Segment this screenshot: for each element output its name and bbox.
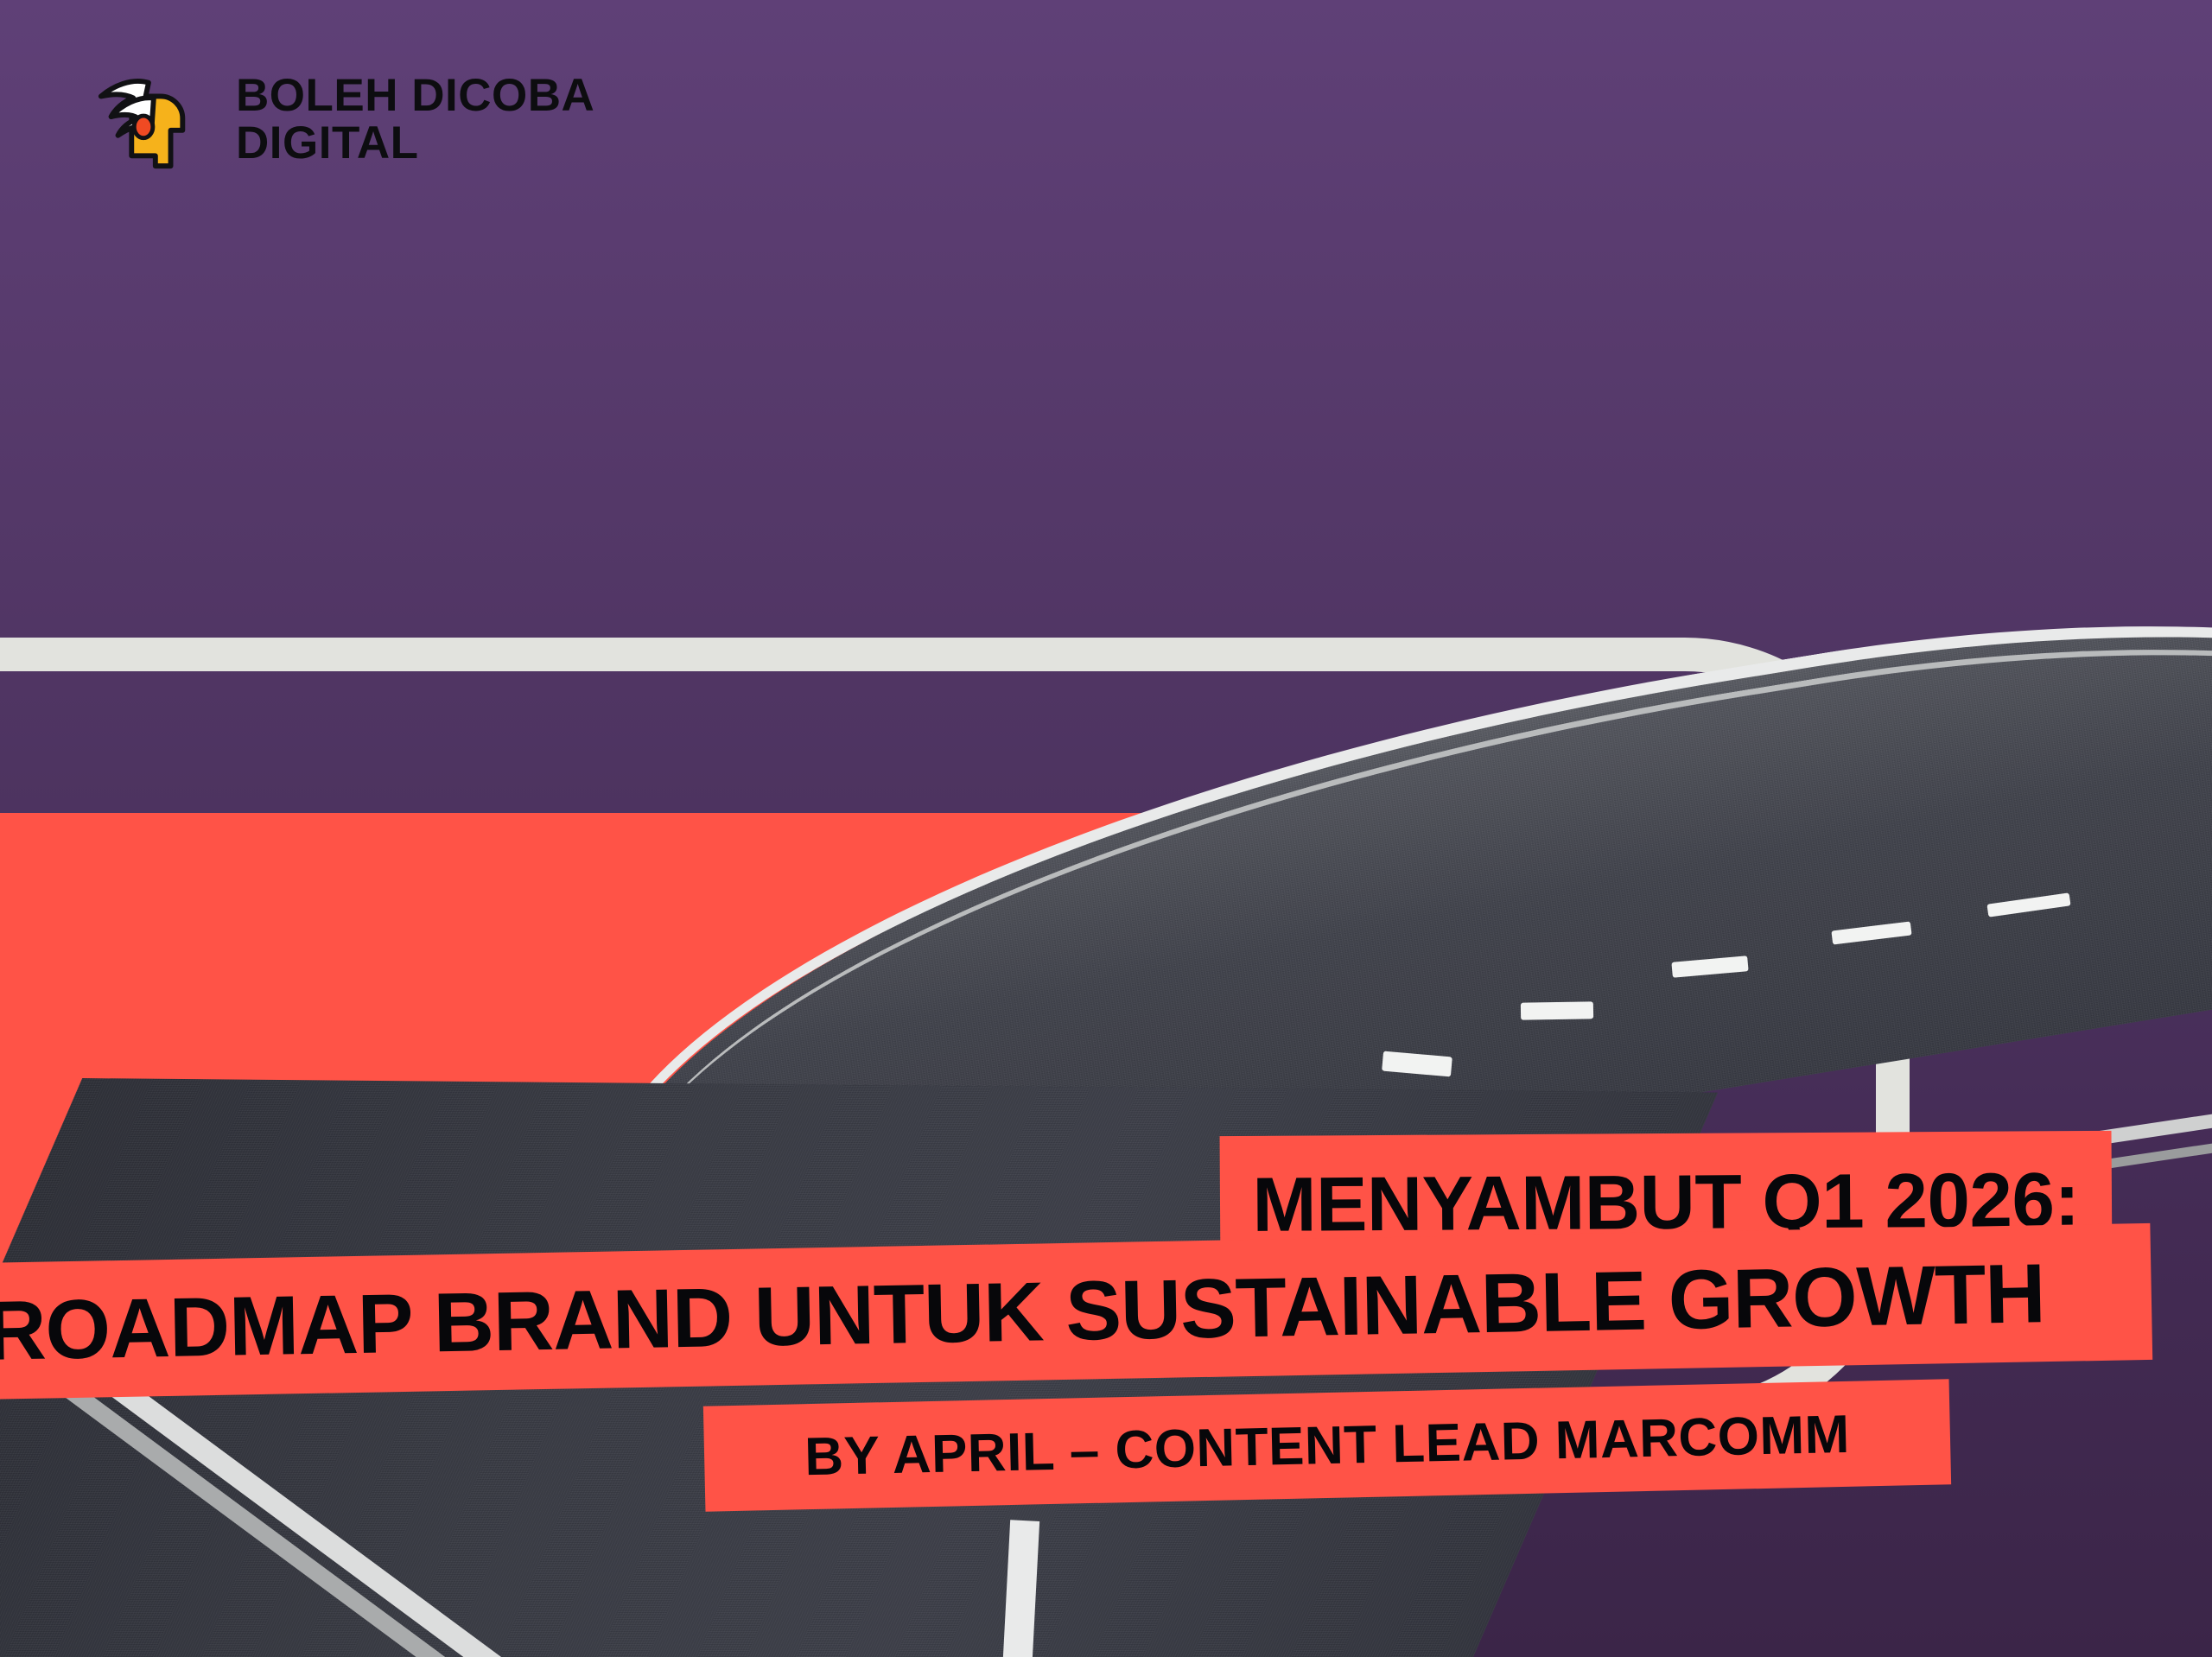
brand-wordmark: BOLEH DICOBA DIGITAL: [236, 73, 594, 167]
winged-head-logo-icon: [82, 67, 210, 173]
title-line-2: ROADMAP BRAND UNTUK SUSTAINABLE GROWTH: [0, 1245, 2045, 1380]
slide-canvas: BOLEH DICOBA DIGITAL MENYAMBUT Q1 2026: …: [0, 0, 2212, 1657]
road-center-line: [1003, 1520, 1039, 1657]
brand-name-line1: BOLEH DICOBA: [236, 73, 594, 120]
byline-text: BY APRIL – CONTENT LEAD MARCOMM: [804, 1403, 1851, 1487]
brand-name-line2: DIGITAL: [236, 120, 594, 168]
brand-logo: BOLEH DICOBA DIGITAL: [82, 67, 594, 173]
road-dash: [1986, 892, 2070, 917]
